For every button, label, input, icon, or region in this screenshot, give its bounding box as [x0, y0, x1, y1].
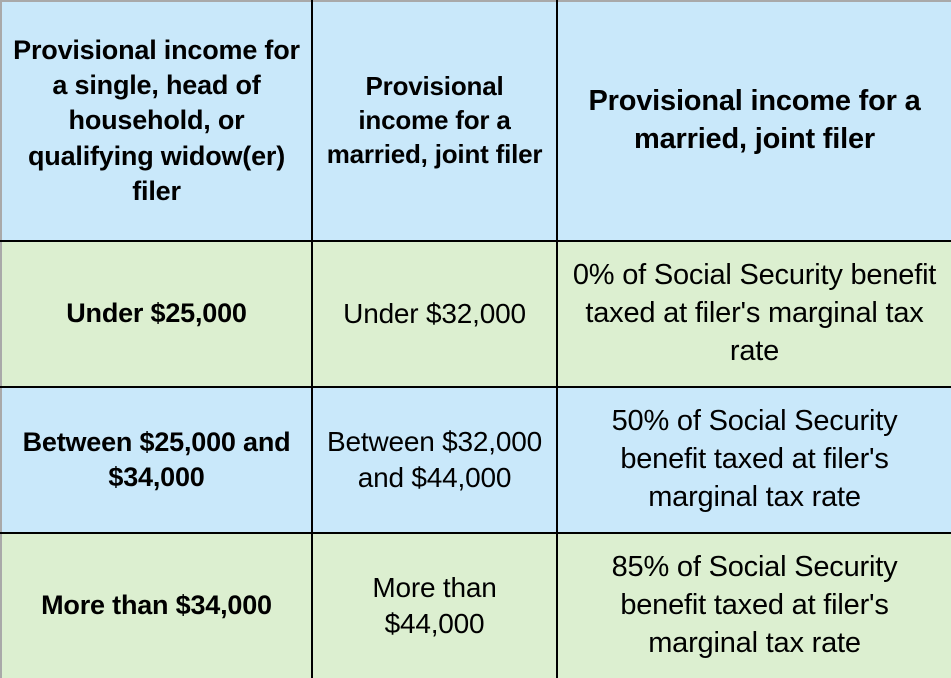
header-cell-joint-filer: Provisional income for a married, joint … [312, 1, 557, 241]
cell-single-filer-tier-1: Under $25,000 [1, 241, 312, 387]
table-row: Under $25,000 Under $32,000 0% of Social… [1, 241, 951, 387]
cell-single-filer-tier-3: More than $34,000 [1, 533, 312, 678]
cell-joint-filer-tier-2: Between $32,000 and $44,000 [312, 387, 557, 533]
header-cell-single-filer: Provisional income for a single, head of… [1, 1, 312, 241]
provisional-income-table-container: Provisional income for a single, head of… [0, 0, 951, 678]
table-header-row: Provisional income for a single, head of… [1, 1, 951, 241]
cell-single-filer-tier-2: Between $25,000 and $34,000 [1, 387, 312, 533]
cell-joint-filer-tier-3: More than $44,000 [312, 533, 557, 678]
cell-joint-filer-tier-1: Under $32,000 [312, 241, 557, 387]
table-row: More than $34,000 More than $44,000 85% … [1, 533, 951, 678]
cell-tax-treatment-tier-3: 85% of Social Security benefit taxed at … [557, 533, 951, 678]
table-row: Between $25,000 and $34,000 Between $32,… [1, 387, 951, 533]
cell-tax-treatment-tier-1: 0% of Social Security benefit taxed at f… [557, 241, 951, 387]
cell-tax-treatment-tier-2: 50% of Social Security benefit taxed at … [557, 387, 951, 533]
provisional-income-table: Provisional income for a single, head of… [0, 0, 951, 678]
header-cell-joint-filer-secondary: Provisional income for a married, joint … [557, 1, 951, 241]
